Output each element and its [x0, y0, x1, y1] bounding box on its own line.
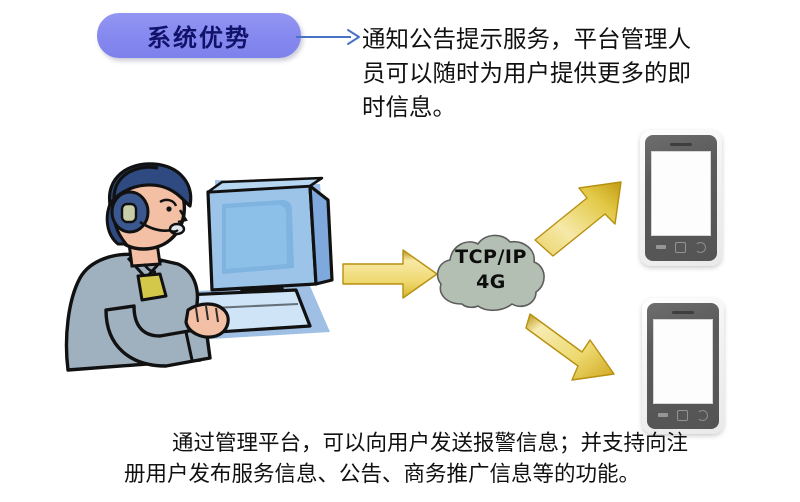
phone-screen[interactable] — [653, 319, 713, 404]
phone-speaker-icon — [670, 143, 692, 146]
phone-body — [645, 135, 717, 261]
back-icon[interactable] — [695, 242, 706, 253]
smartphone-top — [640, 130, 722, 266]
phone-navbar — [653, 407, 713, 423]
cloud-label: TCP/IP 4G — [432, 245, 550, 295]
slide-canvas: 系统优势 通知公告提示服务，平台管理人员可以随时为用户提供更多的即时信息。 — [0, 0, 800, 502]
smartphone-bottom — [642, 298, 724, 434]
system-advantage-badge[interactable]: 系统优势 — [97, 13, 301, 58]
badge-label: 系统优势 — [147, 18, 251, 53]
phone-screen[interactable] — [651, 151, 711, 236]
phone-body — [647, 303, 719, 429]
caption-line-1: 通过管理平台，可以向用户发送报警信息；并支持向注 — [102, 428, 724, 459]
menu-icon[interactable] — [658, 413, 668, 417]
phone-navbar — [651, 239, 711, 255]
bottom-caption: 通过管理平台，可以向用户发送报警信息；并支持向注 册用户发布服务信息、公告、商务… — [102, 428, 724, 490]
badge-to-text-arrow-icon — [296, 24, 364, 50]
arrow-right-to-cloud-icon — [341, 246, 441, 302]
menu-icon[interactable] — [656, 245, 666, 249]
network-cloud-node: TCP/IP 4G — [432, 228, 550, 320]
back-icon[interactable] — [697, 410, 708, 421]
caption-line-2: 册用户发布服务信息、公告、商务推广信息等的功能。 — [102, 459, 724, 490]
phone-speaker-icon — [672, 311, 694, 314]
home-icon[interactable] — [675, 242, 686, 253]
operator-at-computer-illustration — [10, 160, 390, 405]
home-icon[interactable] — [677, 410, 688, 421]
lead-paragraph: 通知公告提示服务，平台管理人员可以随时为用户提供更多的即时信息。 — [362, 22, 714, 124]
